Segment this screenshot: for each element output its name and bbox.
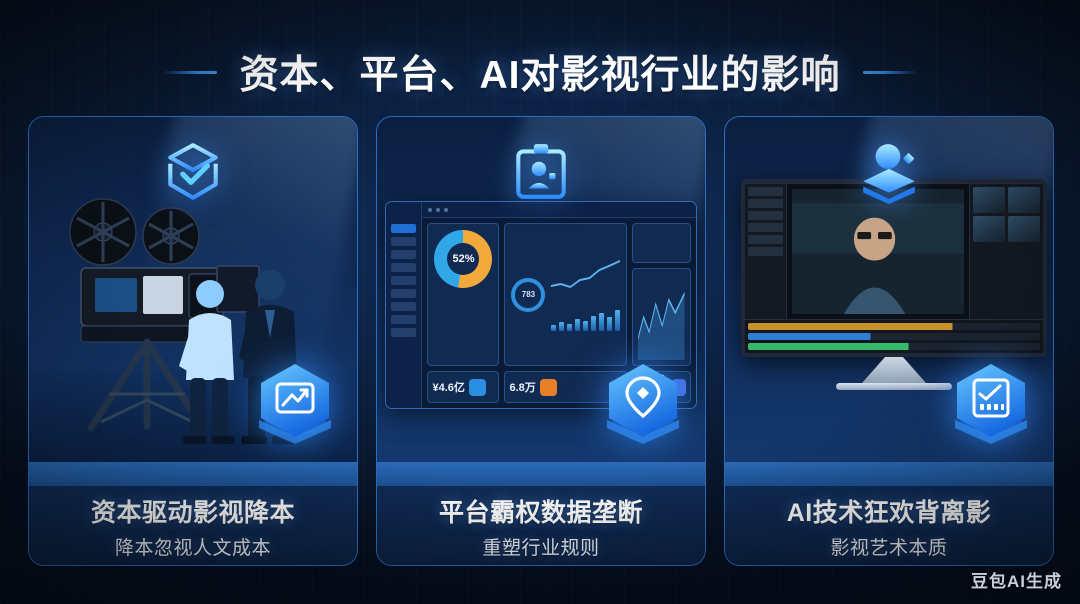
sidebar-row	[391, 224, 416, 233]
media-thumbnail	[748, 223, 783, 232]
card-media-capital	[29, 117, 357, 462]
kpi-widget-1: ¥4.6亿	[427, 371, 499, 403]
card-subtitle-ai: 影视艺术本质	[830, 533, 947, 560]
accent-strip-ai	[725, 462, 1053, 486]
preview-frame	[792, 189, 964, 314]
card-ai[interactable]: AI技术狂欢背离影 影视艺术本质	[724, 116, 1054, 566]
card-title-capital: 资本驱动影视降本	[91, 493, 295, 529]
donut-widget: 52%	[427, 223, 499, 366]
card-platform[interactable]: 52% ¥4.6亿	[376, 116, 706, 566]
page-title: 资本、平台、AI对影视行业的影响	[239, 44, 840, 100]
card-title-platform: 平台霸权数据垄断	[439, 493, 643, 529]
editor-project-panel	[745, 184, 787, 319]
clip-thumbnail	[973, 216, 1005, 242]
clip-thumbnail	[973, 187, 1005, 213]
document-check-badge-icon[interactable]	[945, 358, 1037, 454]
id-card-person-icon	[508, 139, 574, 205]
area-chart-widget	[632, 268, 691, 366]
card-caption-capital: 资本驱动影视降本 降本忽视人文成本	[29, 486, 357, 566]
editor-media-bin	[969, 184, 1043, 319]
card-subtitle-platform: 重塑行业规则	[482, 533, 599, 560]
monitor-screen	[741, 179, 1047, 357]
cube-check-icon	[160, 139, 226, 205]
card-subtitle-capital: 降本忽视人文成本	[115, 533, 271, 560]
crew-member-hoodie	[179, 276, 241, 444]
media-thumbnail	[748, 199, 783, 208]
topbar-dot-icon	[444, 208, 448, 212]
sidebar-row	[391, 289, 416, 298]
card-capital[interactable]: 资本驱动影视降本 降本忽视人文成本	[28, 116, 358, 566]
media-thumbnail	[748, 235, 783, 244]
media-thumbnail	[748, 211, 783, 220]
card-title-ai: AI技术狂欢背离影	[787, 493, 992, 529]
bar-chart	[551, 297, 620, 331]
accent-strip-platform	[377, 462, 705, 486]
timeline-track-effects[interactable]	[748, 343, 1040, 350]
watermark: 豆包AI生成	[971, 567, 1062, 592]
media-thumbnail	[748, 247, 783, 256]
sidebar-row	[391, 263, 416, 272]
donut-chart: 52%	[434, 230, 492, 288]
card-media-platform: 52% ¥4.6亿	[377, 117, 705, 462]
page-header: 资本、平台、AI对影视行业的影响	[0, 44, 1080, 100]
kpi-value: ¥4.6亿	[432, 379, 464, 395]
card-media-ai	[725, 117, 1053, 462]
trend-widget: 783	[504, 223, 627, 366]
title-divider-left	[163, 71, 217, 74]
timeline-track-empty[interactable]	[748, 353, 1040, 357]
title-divider-right	[863, 71, 917, 74]
monitor-stand	[862, 357, 926, 383]
media-thumbnail	[748, 187, 783, 196]
topbar-dot-icon	[436, 208, 440, 212]
donut-value: 52%	[434, 230, 492, 288]
progress-ring: 783	[511, 278, 545, 312]
sidebar-row	[391, 302, 416, 311]
sidebar-row	[391, 250, 416, 259]
person-layers-icon	[856, 139, 922, 205]
clip-thumbnail	[1008, 187, 1040, 213]
kpi-value: 6.8万	[509, 379, 535, 395]
preview-subject	[792, 189, 964, 314]
line-chart	[551, 258, 620, 292]
sidebar-row	[391, 315, 416, 324]
card-caption-platform: 平台霸权数据垄断 重塑行业规则	[377, 486, 705, 566]
area-chart	[638, 274, 685, 360]
clip-thumbnail	[1008, 216, 1040, 242]
editor-timeline[interactable]	[745, 319, 1043, 357]
sidebar-row	[391, 328, 416, 337]
trending-chart-badge-icon[interactable]	[249, 358, 341, 454]
timeline-track-video[interactable]	[748, 333, 1040, 340]
location-pin-badge-icon[interactable]	[597, 358, 689, 454]
stat-widget	[632, 223, 691, 263]
cards-row: 资本驱动影视降本 降本忽视人文成本	[28, 116, 1054, 566]
sidebar-row	[391, 237, 416, 246]
accent-strip-capital	[29, 462, 357, 486]
dashboard-sidebar	[386, 202, 422, 408]
monitor-base	[836, 383, 952, 390]
kpi-icon	[540, 379, 557, 396]
topbar-dot-icon	[428, 208, 432, 212]
kpi-icon	[469, 379, 486, 396]
card-caption-ai: AI技术狂欢背离影 影视艺术本质	[725, 486, 1053, 566]
sidebar-row	[391, 276, 416, 285]
timeline-track-audio[interactable]	[748, 323, 1040, 330]
